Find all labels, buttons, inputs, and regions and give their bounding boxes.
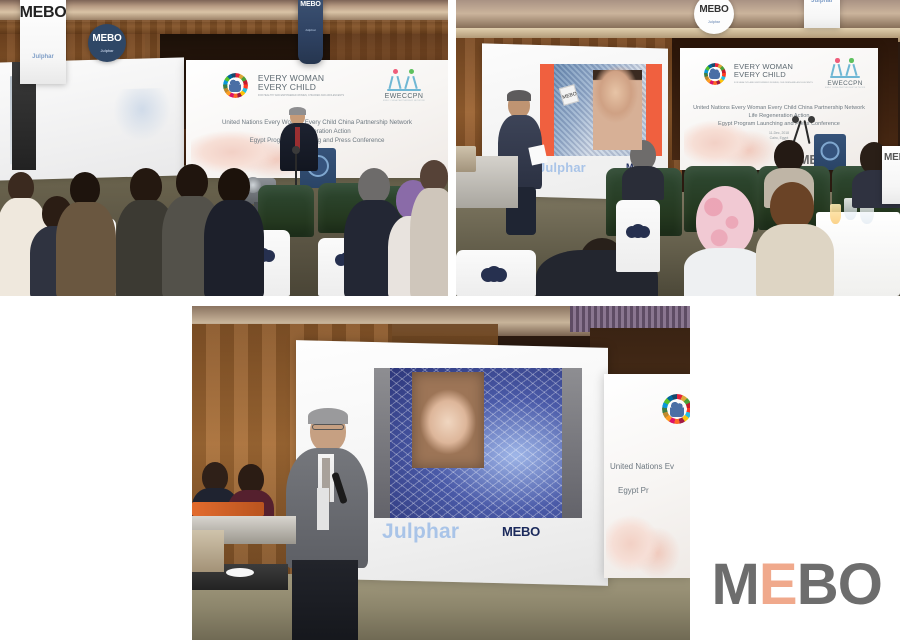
audience-member [756,182,828,296]
slide-orange-band [540,64,554,156]
banner-line-3: Egypt Program Launching and Press Confer… [692,120,866,128]
watermark-e-accent: E [759,552,797,617]
ewec-line2: EVERY CHILD [258,83,371,92]
banner-line-2: Life Regeneration Action [692,112,866,120]
mebo-wordmark: MEBO [699,4,728,15]
sdg-wheel-icon [704,63,726,85]
slide-mebo-logo: MEBO [502,524,540,539]
ewec-subline: FOR HEALTHY AND EMPOWERED WOMEN, CHILDRE… [258,95,371,98]
juice-glass [830,204,841,224]
paper-bag [192,530,224,572]
mebo-circle-sign: MEBO Julphar [88,24,126,62]
photo-bottom: Julphar MEBO United Nations Ev Egypt Pr [192,306,690,640]
saucer [226,568,254,577]
eweccpn-logo: EWECCPN EWEC CHINA PARTNERSHIP NETWORK [381,69,427,102]
conference-banner-bottom: United Nations Ev Egypt Pr [604,374,690,578]
mebo-rollup-banner-right-edge: MEBO [882,146,900,204]
banner-line-2: Egypt Pr [618,486,690,495]
watermark-m: M [711,552,758,617]
trousers [292,560,358,640]
slide-mebo-text: MEBO [502,524,540,539]
podium [814,134,846,170]
photo-top-right: MEBO Julphar MEBO [456,0,900,296]
slide-child-face-photo [412,372,484,468]
eweccpn-tagline: EWEC CHINA PARTNERSHIP NETWORK [824,87,866,89]
baby-hands-graphic [606,488,689,578]
every-woman-every-child-logo: EVERY WOMAN EVERY CHILD FOR HEALTHY AND … [258,74,371,98]
audience-member [206,168,262,296]
eweccpn-tagline: EWEC CHINA PARTNERSHIP NETWORK [381,100,427,102]
julphar-wordmark: Julphar [811,0,833,4]
banner-line-1: United Nations Every Woman Every Child C… [692,104,866,112]
eyeglasses [312,424,344,430]
slide-child-photo: MEBO [554,64,646,156]
mebo-wordmark: MEBO [92,33,121,44]
mebo-wordmark: MEBO [300,1,320,8]
ewec-line2: EVERY CHILD [734,71,816,79]
every-woman-every-child-logo: EVERY WOMAN EVERY CHILD FOR HEALTHY AND … [734,63,816,85]
mebo-rollup-banner: MEBO Julphar [20,0,66,84]
julphar-wordmark: Julphar [32,54,54,60]
banner-line-1: United Nations Ev [610,462,690,471]
slide-julphar-brand: Julphar [382,520,459,544]
paper-bag [456,146,476,172]
slide-right-bar [562,368,582,518]
lanyard [317,488,329,530]
orange-object [192,502,264,516]
slide-left-bar [374,368,390,518]
mebo-watermark-logo: MEBO [711,556,882,614]
julphar-wordmark: Julphar [305,28,316,32]
presenter-papers [528,145,547,166]
audience-member [60,172,112,296]
mebo-wordmark: MEBO [884,152,900,163]
mebo-rollup-banner: Julphar [804,0,840,28]
audience-member [414,160,448,296]
eweccpn-logo: EWECCPN EWEC CHINA PARTNERSHIP NETWORK [824,58,866,89]
audience-member-headscarf [684,186,762,296]
photo-top-left: EVERY WOMAN EVERY CHILD FOR HEALTHY AND … [0,0,448,296]
sdg-wheel-icon [223,73,248,98]
watermark-bo: BO [797,552,882,617]
sdg-wheel-icon [662,394,690,424]
julphar-wordmark: Julphar [101,49,114,53]
photo-collage: EVERY WOMAN EVERY CHILD FOR HEALTHY AND … [0,0,900,640]
julphar-wordmark: Julphar [708,20,720,24]
ewec-subline: FOR HEALTHY AND EMPOWERED WOMEN, CHILDRE… [734,82,816,85]
mebo-hanging-blade: MEBO Julphar [298,0,323,64]
mebo-wordmark: MEBO [20,4,67,22]
speaker-with-microphone [286,410,368,640]
speaker-at-podium [278,108,322,170]
